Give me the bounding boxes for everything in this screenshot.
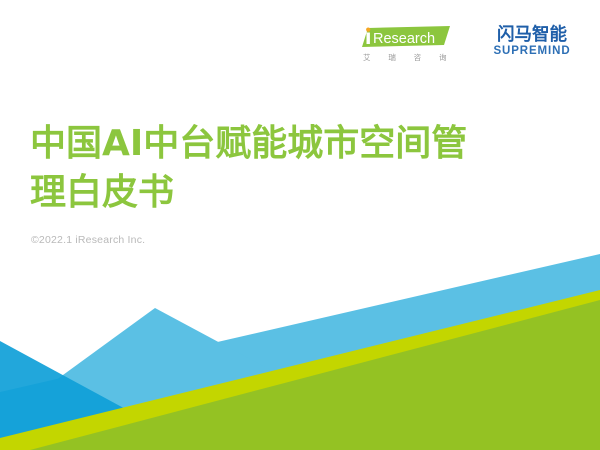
svg-text:Research: Research xyxy=(373,31,435,47)
logo-bar: Research 艾 瑞 咨 询 闪马智能 SUPREMIND xyxy=(358,26,578,63)
iresearch-wordmark: Research xyxy=(358,26,450,49)
supremind-chinese-name: 闪马智能 xyxy=(486,26,578,44)
presentation-cover-slide: Research 艾 瑞 咨 询 闪马智能 SUPREMIND 中国AI中台赋能… xyxy=(0,0,600,450)
page-title: 中国AI中台赋能城市空间管 理白皮书 xyxy=(30,120,500,218)
ir-char-3: 询 xyxy=(439,52,447,63)
supremind-english-name: SUPREMIND xyxy=(486,44,578,58)
mountain-ribbon-graphic xyxy=(0,240,600,450)
ir-char-0: 艾 xyxy=(363,52,371,63)
ir-char-1: 瑞 xyxy=(388,52,396,63)
iresearch-logo: Research 艾 瑞 咨 询 xyxy=(358,26,450,63)
ir-char-2: 咨 xyxy=(414,52,422,63)
iresearch-chinese-name: 艾 瑞 咨 询 xyxy=(358,52,450,63)
supremind-logo: 闪马智能 SUPREMIND xyxy=(486,26,578,59)
